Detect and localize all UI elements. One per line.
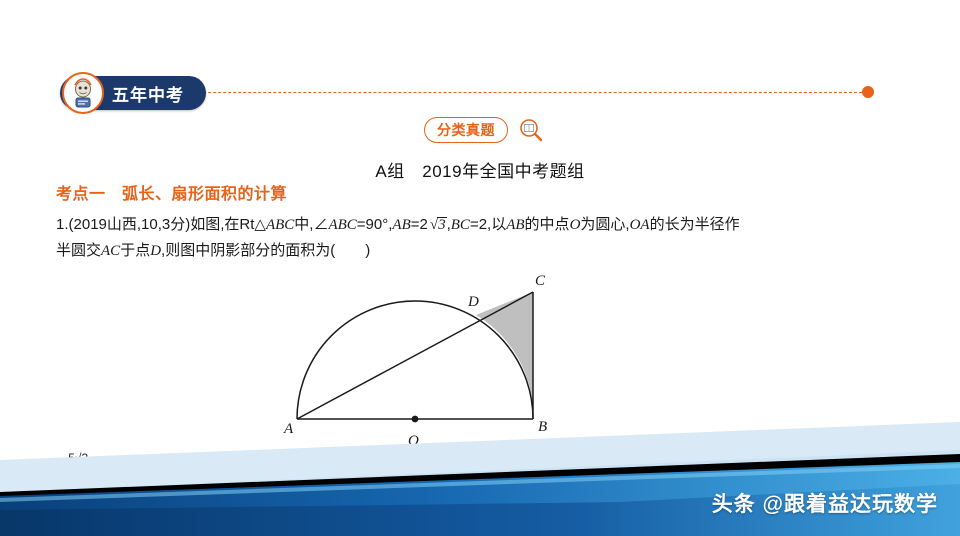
problem-line1-part2: 中,∠ bbox=[294, 216, 328, 233]
figure-label-D: D bbox=[467, 294, 479, 310]
problem-line1-part7: 的中点 bbox=[525, 216, 570, 233]
banner-end-dot bbox=[862, 86, 874, 98]
category-pill[interactable]: 分类真题 bbox=[424, 117, 508, 143]
group-title: A组 2019年全国中考题组 bbox=[0, 157, 960, 182]
problem-line1-radical: 3 bbox=[428, 212, 447, 238]
category-pill-label: 分类真题 bbox=[437, 120, 495, 140]
problem-line1-part6: =2,以 bbox=[470, 216, 506, 233]
problem-line2-part3: ,则图中阴影部分的面积为 bbox=[161, 242, 330, 259]
top-banner: 五年中考 bbox=[60, 76, 870, 110]
problem-line2-part2: 于点 bbox=[120, 242, 150, 259]
problem-line1-abc2: ABC bbox=[328, 217, 356, 233]
mascot-icon bbox=[62, 72, 104, 114]
problem-line2-ac: AC bbox=[101, 243, 120, 259]
problem-line1-abc1: ABC bbox=[266, 217, 294, 233]
problem-line2-part1: 半圆交 bbox=[56, 242, 101, 259]
figure-label-C: C bbox=[535, 273, 546, 289]
problem-line2-d: D bbox=[150, 243, 161, 259]
section-heading: 考点一 弧长、扇形面积的计算 bbox=[56, 180, 287, 204]
problem-line1-part4: =2 bbox=[411, 216, 428, 233]
magnifier-book-icon bbox=[516, 117, 544, 143]
problem-line1-ab: AB bbox=[392, 217, 410, 233]
problem-line1-o: O bbox=[570, 217, 581, 233]
problem-text: 1.(2019山西,10,3分)如图,在Rt△ABC中,∠ABC=90°,AB=… bbox=[56, 212, 912, 264]
problem-line1-part3: =90°, bbox=[357, 216, 393, 233]
category-pill-group: 分类真题 bbox=[424, 117, 544, 143]
watermark-text: 头条 @跟着益达玩数学 bbox=[712, 488, 938, 518]
problem-line1-part9: 的长为半径作 bbox=[650, 216, 740, 233]
problem-line1-radicand: 3 bbox=[437, 217, 447, 232]
problem-line1-ab2: AB bbox=[506, 217, 524, 233]
problem-line1-bc: BC bbox=[451, 217, 470, 233]
problem-line2-blank: ( ) bbox=[330, 242, 370, 259]
slide-page: 五年中考 分类真题 bbox=[0, 0, 960, 536]
problem-line1-part1: 1.(2019山西,10,3分)如图,在Rt△ bbox=[56, 216, 266, 233]
problem-line1-part8: 为圆心, bbox=[580, 216, 629, 233]
problem-line1-oa: OA bbox=[630, 217, 650, 233]
banner-tab-label: 五年中考 bbox=[112, 81, 184, 106]
